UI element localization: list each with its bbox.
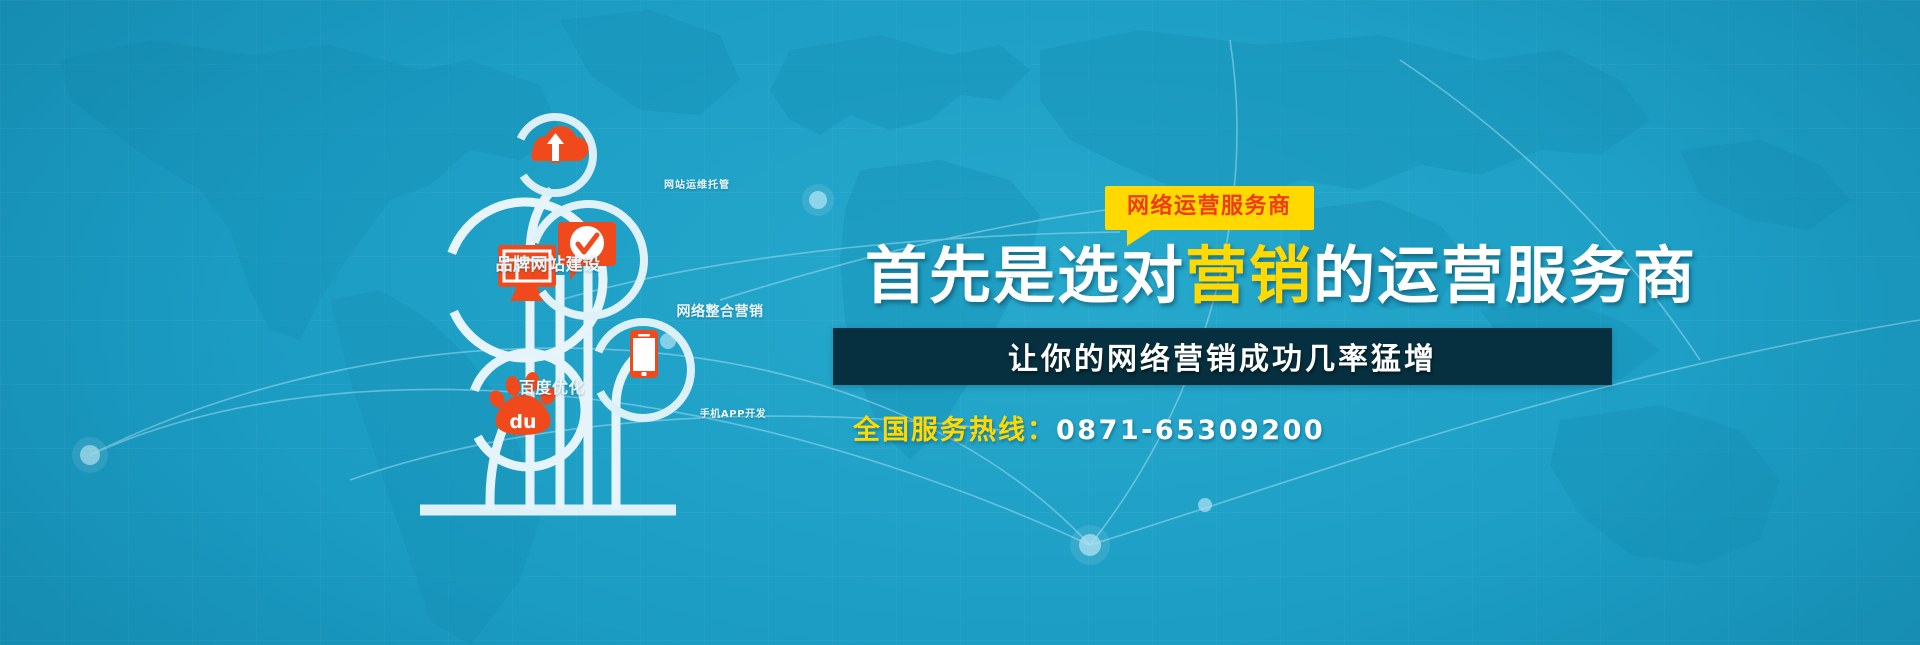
service-badge: 网络运营服务商 bbox=[1105, 186, 1314, 230]
subtitle-text: 让你的网络营销成功几率猛增 bbox=[1008, 334, 1437, 378]
marketing-banner: du 品牌网站建设 网站运维托管 网络整合营销 百度优化 手机APP开发 网络运… bbox=[0, 0, 1920, 645]
mobile-phone-icon bbox=[630, 330, 658, 378]
baidu-du-text: du bbox=[509, 411, 536, 433]
headline: 首先是选对营销的运营服务商 bbox=[865, 243, 1633, 310]
tree-node-label-app: 手机APP开发 bbox=[668, 405, 798, 420]
headline-part2: 的运营服务商 bbox=[1313, 239, 1697, 312]
tree-node-label-baidu: 百度优化 bbox=[487, 374, 617, 398]
tree-node-label-hosting: 网站运维托管 bbox=[637, 176, 757, 191]
tree-node-label-marketing: 网络整合营销 bbox=[650, 301, 790, 321]
headline-part1: 首先是选对 bbox=[865, 239, 1185, 312]
tree-node-hosting bbox=[505, 105, 606, 205]
banner-content: 网络运营服务商 首先是选对营销的运营服务商 让你的网络营销成功几率猛增 全国服务… bbox=[833, 175, 1633, 447]
headline-highlight: 营销 bbox=[1185, 239, 1313, 312]
subtitle-bar: 让你的网络营销成功几率猛增 bbox=[833, 328, 1612, 385]
badge-container: 网络运营服务商 bbox=[833, 175, 1633, 237]
hotline-label: 全国服务热线： bbox=[853, 415, 1056, 446]
tree-node-label-branding: 品牌网站建设 bbox=[478, 250, 618, 275]
hotline: 全国服务热线：0871-65309200 bbox=[853, 408, 1633, 447]
hotline-number: 0871-65309200 bbox=[1056, 415, 1325, 446]
